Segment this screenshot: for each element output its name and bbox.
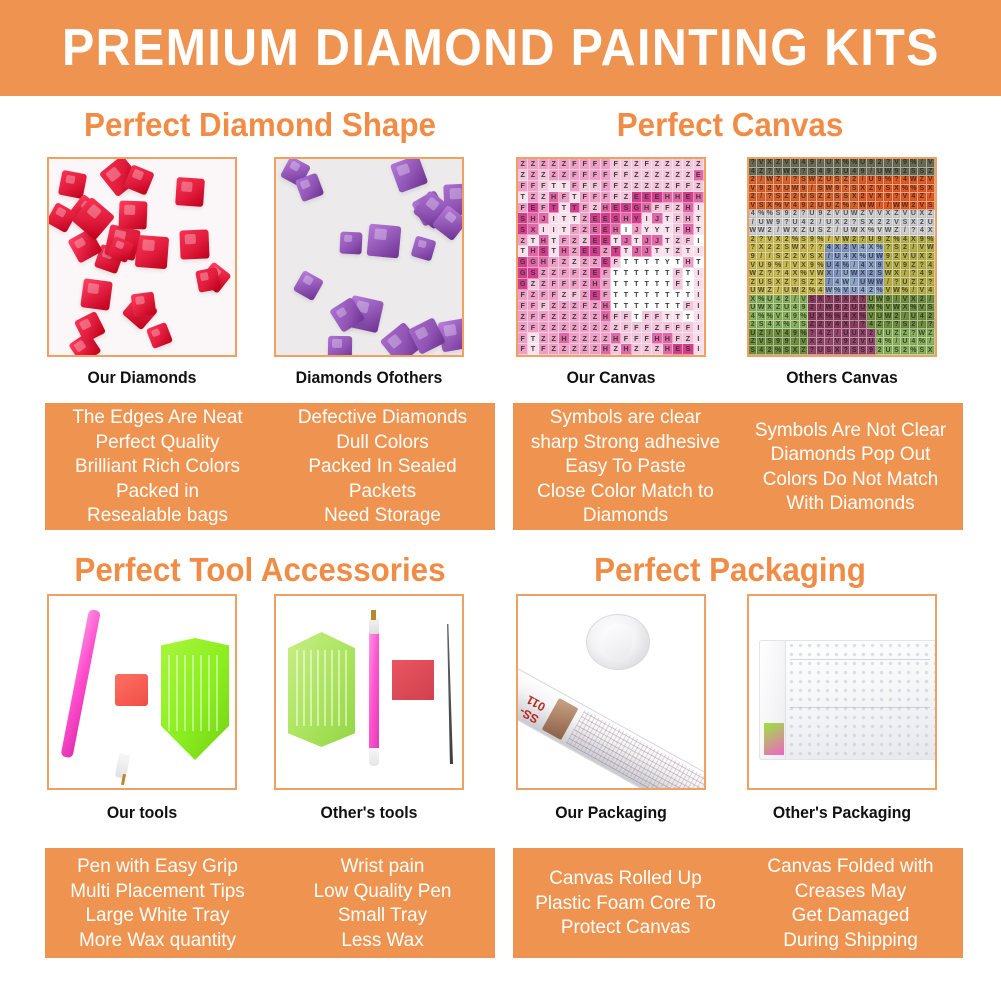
canvas-symbol-cell: X: [834, 244, 842, 253]
canvas-symbol-cell: F: [632, 322, 642, 333]
canvas-symbol-cell: 9: [808, 261, 816, 270]
canvas-symbol-cell: 4: [766, 321, 774, 330]
canvas-symbol-cell: F: [549, 279, 559, 290]
canvas-symbol-cell: W: [901, 202, 909, 211]
canvas-symbol-cell: Z: [663, 159, 673, 170]
canvas-symbol-cell: X: [800, 244, 808, 253]
canvas-symbol-cell: Z: [694, 159, 704, 170]
canvas-symbol-cell: T: [611, 235, 621, 246]
canvas-symbol-cell: F: [528, 181, 538, 192]
canvas-symbol-cell: T: [549, 181, 559, 192]
canvas-symbol-cell: T: [570, 213, 580, 224]
pen-ferrule-icon: [369, 618, 379, 634]
canvas-symbol-cell: Z: [673, 203, 683, 214]
canvas-symbol-cell: X: [791, 346, 799, 355]
canvas-symbol-cell: 9: [808, 236, 816, 245]
canvas-symbol-cell: S: [808, 193, 816, 202]
canvas-symbol-cell: Z: [749, 278, 757, 287]
section-heading-diamond-shape: Perfect Diamond Shape: [56, 106, 465, 144]
canvas-symbol-cell: V: [800, 338, 808, 347]
canvas-symbol-cell: Z: [766, 287, 774, 296]
canvas-symbol-cell: U: [757, 278, 765, 287]
canvas-symbol-cell: 2: [867, 287, 875, 296]
canvas-symbol-cell: F: [518, 203, 528, 214]
canvas-symbol-cell: T: [694, 224, 704, 235]
canvas-symbol-cell: H: [683, 257, 693, 268]
canvas-symbol-cell: V: [893, 261, 901, 270]
canvas-symbol-cell: F: [549, 290, 559, 301]
canvas-symbol-cell: Z: [580, 268, 590, 279]
canvas-symbol-cell: E: [652, 192, 662, 203]
canvas-symbol-cell: /: [825, 278, 833, 287]
canvas-symbol-cell: F: [673, 181, 683, 192]
canvas-symbol-cell: E: [590, 246, 600, 257]
canvas-symbol-cell: F: [632, 333, 642, 344]
canvas-symbol-cell: F: [611, 192, 621, 203]
canvas-symbol-cell: 2: [791, 253, 799, 262]
canvas-symbol-cell: W: [884, 270, 892, 279]
canvas-symbol-cell: W: [850, 227, 858, 236]
canvas-symbol-cell: V: [918, 304, 926, 313]
canvas-symbol-cell: T: [570, 192, 580, 203]
canvas-symbol-cell: F: [559, 235, 569, 246]
canvas-symbol-cell: Z: [559, 290, 569, 301]
canvas-symbol-cell: F: [590, 181, 600, 192]
canvas-symbol-cell: T: [632, 311, 642, 322]
canvas-symbol-cell: Z: [867, 185, 875, 194]
canvas-symbol-cell: 2: [910, 321, 918, 330]
canvas-symbol-cell: E: [642, 192, 652, 203]
canvas-symbol-cell: T: [632, 279, 642, 290]
canvas-symbol-cell: W: [884, 312, 892, 321]
canvas-symbol-cell: U: [842, 210, 850, 219]
canvas-symbol-cell: W: [859, 202, 867, 211]
canvas-symbol-cell: /: [817, 219, 825, 228]
canvas-symbol-cell: T: [518, 192, 528, 203]
canvas-symbol-cell: 2: [867, 329, 875, 338]
canvas-symbol-cell: I: [694, 344, 704, 355]
canvas-symbol-cell: ?: [842, 346, 850, 355]
canvas-symbol-cell: I: [694, 311, 704, 322]
canvas-symbol-cell: E: [632, 192, 642, 203]
canvas-symbol-cell: %: [901, 185, 909, 194]
panel-text-our-diamonds: The Edges Are Neat Perfect Quality Brill…: [48, 405, 266, 528]
canvas-symbol-cell: F: [611, 159, 621, 170]
canvas-symbol-cell: /: [757, 176, 765, 185]
canvas-symbol-cell: 4: [791, 304, 799, 313]
canvas-symbol-cell: H: [621, 213, 631, 224]
canvas-symbol-cell: 2: [876, 159, 884, 168]
canvas-symbol-cell: U: [757, 219, 765, 228]
canvas-symbol-cell: %: [757, 312, 765, 321]
canvas-symbol-cell: Z: [580, 333, 590, 344]
canvas-symbol-cell: ?: [850, 219, 858, 228]
canvas-symbol-cell: /: [825, 338, 833, 347]
panel-canvas: Symbols are clear sharp Strong adhesive …: [513, 403, 963, 530]
canvas-symbol-cell: Z: [570, 257, 580, 268]
canvas-symbol-cell: Z: [580, 224, 590, 235]
canvas-symbol-cell: T: [632, 257, 642, 268]
canvas-symbol-cell: X: [850, 295, 858, 304]
canvas-symbol-cell: F: [559, 279, 569, 290]
canvas-symbol-cell: 4: [817, 287, 825, 296]
canvas-symbol-cell: 9: [834, 304, 842, 313]
canvas-symbol-cell: W: [927, 244, 935, 253]
canvas-symbol-cell: X: [808, 338, 816, 347]
canvas-symbol-cell: U: [783, 287, 791, 296]
photo-our-diamonds: [49, 159, 235, 355]
canvas-symbol-cell: Z: [580, 322, 590, 333]
canvas-symbol-cell: Z: [580, 235, 590, 246]
canvas-symbol-cell: U: [749, 329, 757, 338]
canvas-symbol-cell: S: [518, 213, 528, 224]
canvas-symbol-cell: ?: [766, 270, 774, 279]
canvas-symbol-cell: 4: [749, 168, 757, 177]
canvas-symbol-cell: %: [927, 236, 935, 245]
canvas-symbol-cell: %: [817, 261, 825, 270]
canvas-symbol-cell: Z: [539, 268, 549, 279]
canvas-symbol-cell: I: [694, 268, 704, 279]
canvas-symbol-cell: /: [766, 253, 774, 262]
canvas-symbol-cell: I: [539, 224, 549, 235]
canvas-symbol-cell: S: [834, 176, 842, 185]
canvas-symbol-cell: S: [817, 227, 825, 236]
canvas-symbol-cell: Z: [518, 170, 528, 181]
canvas-symbol-cell: S: [774, 253, 782, 262]
canvas-symbol-cell: Z: [652, 170, 662, 181]
canvas-symbol-cell: T: [528, 235, 538, 246]
canvas-symbol-cell: F: [559, 268, 569, 279]
canvas-symbol-cell: 9: [867, 159, 875, 168]
canvas-symbol-cell: %: [910, 304, 918, 313]
canvas-symbol-cell: /: [927, 338, 935, 347]
canvas-symbol-cell: 4: [901, 176, 909, 185]
canvas-symbol-cell: Z: [749, 338, 757, 347]
canvas-symbol-cell: F: [683, 181, 693, 192]
canvas-symbol-cell: ?: [791, 278, 799, 287]
canvas-symbol-cell: ?: [859, 295, 867, 304]
tube-wrap-texture-icon: [566, 710, 704, 788]
canvas-symbol-cell: S: [800, 236, 808, 245]
photo-our-canvas: ZZZZZFFFFFZZFZZZZZZZZZZFFFFFFZZZZZZEFFFT…: [518, 159, 704, 355]
canvas-symbol-cell: /: [817, 159, 825, 168]
canvas-symbol-cell: F: [601, 170, 611, 181]
canvas-symbol-cell: F: [642, 333, 652, 344]
canvas-symbol-cell: ?: [884, 244, 892, 253]
canvas-symbol-cell: 4: [774, 295, 782, 304]
canvas-symbol-cell: J: [632, 246, 642, 257]
canvas-symbol-cell: 2: [749, 236, 757, 245]
canvas-symbol-cell: F: [518, 333, 528, 344]
canvas-symbol-cell: Z: [559, 301, 569, 312]
canvas-symbol-cell: V: [884, 261, 892, 270]
canvas-symbol-cell: F: [611, 257, 621, 268]
canvas-symbol-cell: T: [559, 181, 569, 192]
canvas-symbol-cell: Z: [825, 227, 833, 236]
canvas-symbol-cell: ?: [749, 244, 757, 253]
canvas-symbol-cell: V: [876, 185, 884, 194]
canvas-symbol-cell: /: [834, 270, 842, 279]
canvas-symbol-cell: T: [528, 344, 538, 355]
canvas-symbol-cell: V: [867, 193, 875, 202]
canvas-symbol-cell: Z: [783, 278, 791, 287]
canvas-symbol-cell: E: [528, 203, 538, 214]
canvas-symbol-cell: F: [528, 322, 538, 333]
canvas-symbol-cell: F: [549, 257, 559, 268]
canvas-symbol-cell: Y: [663, 257, 673, 268]
drill-square: [195, 267, 221, 293]
canvas-symbol-cell: U: [867, 253, 875, 262]
canvas-symbol-cell: F: [590, 170, 600, 181]
canvas-symbol-cell: /: [783, 261, 791, 270]
canvas-symbol-cell: Z: [518, 322, 528, 333]
canvas-symbol-cell: T: [652, 246, 662, 257]
canvas-symbol-cell: Z: [539, 159, 549, 170]
canvas-symbol-cell: S: [783, 244, 791, 253]
canvas-symbol-cell: S: [800, 176, 808, 185]
canvas-symbol-cell: 4: [800, 159, 808, 168]
canvas-symbol-cell: %: [893, 236, 901, 245]
canvas-symbol-cell: X: [528, 224, 538, 235]
canvas-symbol-cell: Z: [570, 311, 580, 322]
canvas-symbol-cell: I: [694, 279, 704, 290]
canvas-symbol-cell: W: [783, 227, 791, 236]
canvas-symbol-cell: 9: [876, 261, 884, 270]
canvas-symbol-cell: F: [590, 192, 600, 203]
canvas-symbol-cell: Z: [590, 333, 600, 344]
canvas-symbol-cell: Z: [539, 170, 549, 181]
red-drill-scatter: [49, 159, 235, 355]
canvas-symbol-cell: V: [867, 210, 875, 219]
canvas-symbol-cell: 9: [867, 346, 875, 355]
canvas-symbol-cell: Z: [808, 278, 816, 287]
canvas-symbol-cell: 2: [901, 346, 909, 355]
canvas-symbol-cell: Z: [927, 329, 935, 338]
canvas-symbol-cell: J: [539, 213, 549, 224]
canvas-symbol-cell: X: [791, 168, 799, 177]
canvas-symbol-cell: 2: [876, 219, 884, 228]
canvas-symbol-cell: 2: [867, 270, 875, 279]
canvas-symbol-cell: Z: [859, 210, 867, 219]
canvas-symbol-cell: T: [683, 279, 693, 290]
canvas-symbol-cell: 2: [808, 202, 816, 211]
canvas-symbol-cell: Z: [642, 181, 652, 192]
canvas-symbol-cell: T: [642, 268, 652, 279]
canvas-symbol-cell: 2: [774, 244, 782, 253]
canvas-symbol-cell: W: [783, 168, 791, 177]
canvas-symbol-cell: Z: [817, 278, 825, 287]
canvas-symbol-cell: Y: [652, 224, 662, 235]
canvas-symbol-cell: S: [901, 321, 909, 330]
canvas-symbol-cell: W: [842, 236, 850, 245]
canvas-symbol-cell: G: [518, 279, 528, 290]
tube-cap-inner-icon: [602, 624, 632, 660]
canvas-symbol-cell: %: [825, 312, 833, 321]
canvas-symbol-cell: %: [859, 312, 867, 321]
canvas-symbol-cell: %: [766, 312, 774, 321]
canvas-symbol-cell: X: [893, 185, 901, 194]
canvas-symbol-cell: X: [774, 236, 782, 245]
canvas-symbol-cell: H: [559, 333, 569, 344]
canvas-symbol-cell: T: [683, 268, 693, 279]
canvas-symbol-cell: 4: [749, 210, 757, 219]
canvas-symbol-cell: 9: [876, 236, 884, 245]
canvas-symbol-cell: T: [549, 203, 559, 214]
canvas-symbol-cell: Z: [549, 159, 559, 170]
canvas-symbol-cell: Z: [817, 176, 825, 185]
canvas-symbol-cell: Z: [580, 279, 590, 290]
canvas-symbol-cell: V: [774, 329, 782, 338]
canvas-symbol-cell: F: [673, 268, 683, 279]
canvas-symbol-cell: S: [876, 270, 884, 279]
canvas-symbol-cell: F: [580, 301, 590, 312]
canvas-symbol-cell: %: [884, 176, 892, 185]
canvas-symbol-cell: F: [601, 181, 611, 192]
canvas-symbol-cell: S: [859, 219, 867, 228]
canvas-symbol-cell: F: [683, 301, 693, 312]
canvas-symbol-cell: T: [652, 268, 662, 279]
canvas-symbol-cell: U: [825, 261, 833, 270]
canvas-symbol-cell: S: [611, 213, 621, 224]
canvas-symbol-cell: Z: [549, 311, 559, 322]
canvas-symbol-cell: U: [859, 304, 867, 313]
canvas-symbol-cell: V: [808, 270, 816, 279]
panel-text-our-canvas: Symbols are clear sharp Strong adhesive …: [516, 405, 734, 528]
canvas-symbol-cell: ?: [884, 159, 892, 168]
canvas-symbol-cell: U: [749, 287, 757, 296]
canvas-symbol-cell: /: [791, 338, 799, 347]
canvas-symbol-cell: Z: [673, 170, 683, 181]
canvas-symbol-cell: F: [539, 181, 549, 192]
canvas-symbol-cell: X: [834, 346, 842, 355]
canvas-symbol-cell: S: [842, 193, 850, 202]
canvas-symbol-cell: F: [570, 290, 580, 301]
canvas-symbol-cell: W: [791, 244, 799, 253]
canvas-symbol-cell: U: [834, 253, 842, 262]
canvas-symbol-cell: Z: [590, 344, 600, 355]
canvas-symbol-cell: /: [825, 253, 833, 262]
canvas-symbol-cell: S: [901, 219, 909, 228]
pen-tip-icon: [371, 610, 376, 620]
canvas-symbol-cell: X: [927, 346, 935, 355]
canvas-symbol-cell: T: [694, 213, 704, 224]
canvas-symbol-cell: T: [663, 246, 673, 257]
drill-square: [130, 292, 155, 317]
canvas-symbol-cell: Z: [652, 181, 662, 192]
canvas-symbol-cell: T: [652, 279, 662, 290]
canvas-symbol-cell: Z: [528, 290, 538, 301]
canvas-symbol-cell: W: [850, 210, 858, 219]
canvas-symbol-cell: %: [859, 253, 867, 262]
canvas-symbol-cell: ?: [842, 185, 850, 194]
canvas-symbol-cell: F: [570, 159, 580, 170]
tray-grooves-icon: [168, 655, 222, 731]
drill-square: [175, 177, 205, 207]
canvas-symbol-cell: F: [621, 170, 631, 181]
header-banner: PREMIUM DIAMOND PAINTING KITS: [0, 0, 1001, 96]
canvas-symbol-cell: I: [549, 213, 559, 224]
canvas-symbol-cell: Z: [559, 322, 569, 333]
canvas-symbol-cell: 2: [817, 321, 825, 330]
canvas-symbol-cell: ?: [808, 244, 816, 253]
canvas-symbol-cell: 4: [918, 227, 926, 236]
canvas-symbol-cell: 9: [901, 261, 909, 270]
canvas-symbol-cell: ?: [757, 236, 765, 245]
canvas-symbol-cell: W: [757, 304, 765, 313]
canvas-symbol-cell: %: [842, 159, 850, 168]
canvas-symbol-cell: V: [893, 219, 901, 228]
canvas-symbol-cell: W: [817, 270, 825, 279]
canvas-symbol-cell: H: [663, 344, 673, 355]
canvas-symbol-cell: G: [518, 268, 528, 279]
canvas-symbol-cell: T: [611, 279, 621, 290]
canvas-symbol-cell: Z: [774, 159, 782, 168]
tray-small-grooves-icon: [296, 650, 347, 726]
canvas-symbol-cell: Z: [652, 344, 662, 355]
canvas-symbol-cell: H: [601, 203, 611, 214]
canvas-symbol-cell: Z: [683, 333, 693, 344]
canvas-symbol-cell: S: [749, 346, 757, 355]
canvas-symbol-cell: V: [774, 168, 782, 177]
symbol-grid-others-canvas: ?VXZVU49/UX%%U92?V9%/V4Z?VWX?S492U49/UW9…: [749, 159, 935, 355]
canvas-symbol-cell: 2: [800, 287, 808, 296]
canvas-symbol-cell: F: [601, 279, 611, 290]
canvas-symbol-cell: F: [539, 311, 549, 322]
canvas-symbol-cell: U: [850, 304, 858, 313]
canvas-symbol-cell: V: [800, 295, 808, 304]
canvas-symbol-cell: W: [893, 287, 901, 296]
canvas-symbol-cell: F: [621, 333, 631, 344]
canvas-symbol-cell: 9: [859, 168, 867, 177]
canvas-symbol-cell: U: [910, 312, 918, 321]
canvas-symbol-cell: H: [663, 333, 673, 344]
canvas-symbol-cell: S: [817, 185, 825, 194]
canvas-symbol-cell: X: [850, 312, 858, 321]
canvas-symbol-cell: Z: [549, 301, 559, 312]
canvas-symbol-cell: F: [518, 301, 528, 312]
canvas-symbol-cell: 9: [783, 338, 791, 347]
canvas-symbol-cell: T: [663, 279, 673, 290]
canvas-symbol-cell: 9: [800, 185, 808, 194]
canvas-symbol-cell: W: [766, 219, 774, 228]
canvas-symbol-cell: U: [791, 219, 799, 228]
photo-frame-our-canvas: ZZZZZFFFFFZZFZZZZZZZZZZFFFFFFZZZZZZEFFFT…: [516, 157, 706, 357]
canvas-symbol-cell: W: [876, 295, 884, 304]
canvas-symbol-cell: F: [673, 279, 683, 290]
canvas-symbol-cell: H: [683, 224, 693, 235]
canvas-symbol-cell: F: [580, 170, 590, 181]
canvas-symbol-cell: Z: [893, 210, 901, 219]
canvas-symbol-cell: U: [749, 304, 757, 313]
canvas-symbol-cell: V: [876, 227, 884, 236]
canvas-symbol-cell: H: [549, 192, 559, 203]
canvas-symbol-cell: V: [774, 312, 782, 321]
pen-tip-icon: [121, 774, 126, 785]
canvas-symbol-cell: E: [694, 170, 704, 181]
canvas-symbol-cell: %: [791, 236, 799, 245]
canvas-symbol-cell: U: [884, 329, 892, 338]
canvas-symbol-cell: W: [876, 253, 884, 262]
canvas-symbol-cell: V: [757, 159, 765, 168]
drill-square: [328, 336, 353, 355]
caption-others-canvas: Others Canvas: [754, 368, 931, 388]
canvas-symbol-cell: H: [663, 192, 673, 203]
canvas-symbol-cell: V: [757, 338, 765, 347]
canvas-symbol-cell: I: [694, 246, 704, 257]
canvas-symbol-cell: ?: [893, 278, 901, 287]
canvas-symbol-cell: 4: [876, 338, 884, 347]
canvas-symbol-cell: Z: [808, 321, 816, 330]
